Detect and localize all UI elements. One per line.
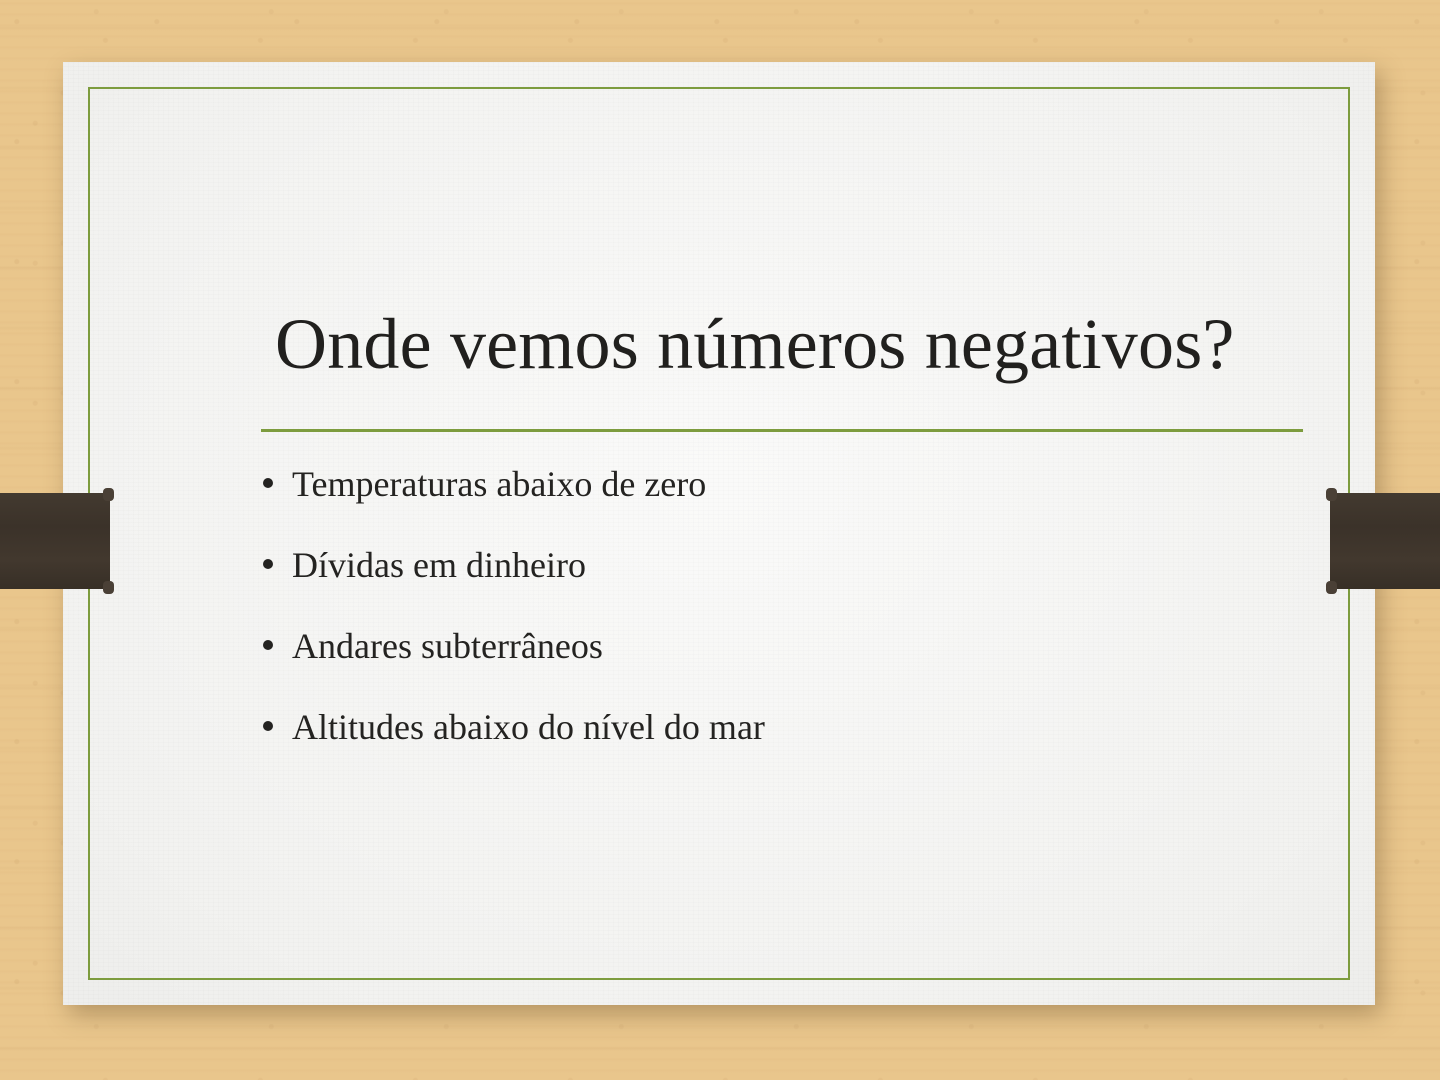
list-item-label: Altitudes abaixo do nível do mar <box>292 707 765 747</box>
list-item-label: Temperaturas abaixo de zero <box>292 464 706 504</box>
binder-clip-left <box>0 493 110 589</box>
bullet-dot-icon <box>263 640 273 650</box>
binder-clip-right <box>1330 493 1440 589</box>
bullet-list: Temperaturas abaixo de zero Dívidas em d… <box>259 466 1319 790</box>
list-item: Altitudes abaixo do nível do mar <box>259 709 1319 745</box>
list-item-label: Dívidas em dinheiro <box>292 545 586 585</box>
list-item: Andares subterrâneos <box>259 628 1319 664</box>
list-item: Temperaturas abaixo de zero <box>259 466 1319 502</box>
list-item-label: Andares subterrâneos <box>292 626 603 666</box>
slide-stage: Onde vemos números negativos? Temperatur… <box>0 0 1440 1080</box>
list-item: Dívidas em dinheiro <box>259 547 1319 583</box>
title-divider-line <box>261 429 1303 432</box>
bullet-dot-icon <box>263 478 273 488</box>
slide-card: Onde vemos números negativos? Temperatur… <box>63 62 1375 1005</box>
slide-title: Onde vemos números negativos? <box>275 306 1315 384</box>
bullet-dot-icon <box>263 721 273 731</box>
bullet-dot-icon <box>263 559 273 569</box>
